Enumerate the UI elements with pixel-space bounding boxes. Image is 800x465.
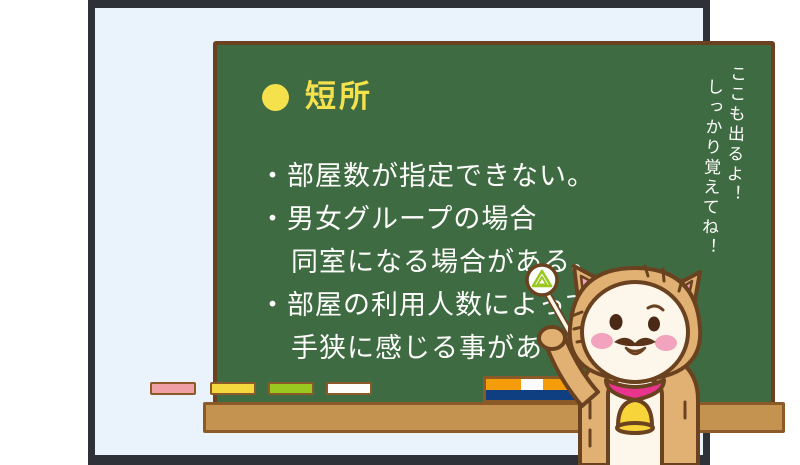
chalk-yellow — [210, 382, 256, 395]
slide-canvas: 短所 ・部屋数が指定できない。 ・男女グループの場合 同室になる場合がある。 ・… — [0, 0, 800, 465]
board-title-row: 短所 — [262, 82, 373, 113]
page-title: 短所 — [305, 82, 373, 113]
side-note: しっかり覚えてね！ ここも出るよ！ — [697, 64, 745, 259]
side-note-column-2: しっかり覚えてね！ — [697, 78, 722, 259]
list-item: ・男女グループの場合 — [259, 198, 620, 241]
cat-paw-left — [539, 327, 565, 349]
chalk-pink — [150, 382, 196, 395]
chalk-green — [268, 382, 314, 395]
cat-cheek-right — [655, 335, 677, 351]
chalk-white — [326, 382, 372, 395]
cat-hood-teacher — [530, 250, 730, 465]
side-note-column-1: ここも出るよ！ — [720, 64, 745, 259]
cat-eye-left — [610, 314, 623, 330]
yellow-dot-icon — [262, 84, 289, 111]
cat-cheek-left — [591, 333, 613, 349]
cat-eye-right — [648, 317, 660, 332]
list-item: ・部屋数が指定できない。 — [259, 155, 620, 198]
cat-bell-base — [617, 423, 653, 433]
cat-face — [582, 282, 688, 382]
